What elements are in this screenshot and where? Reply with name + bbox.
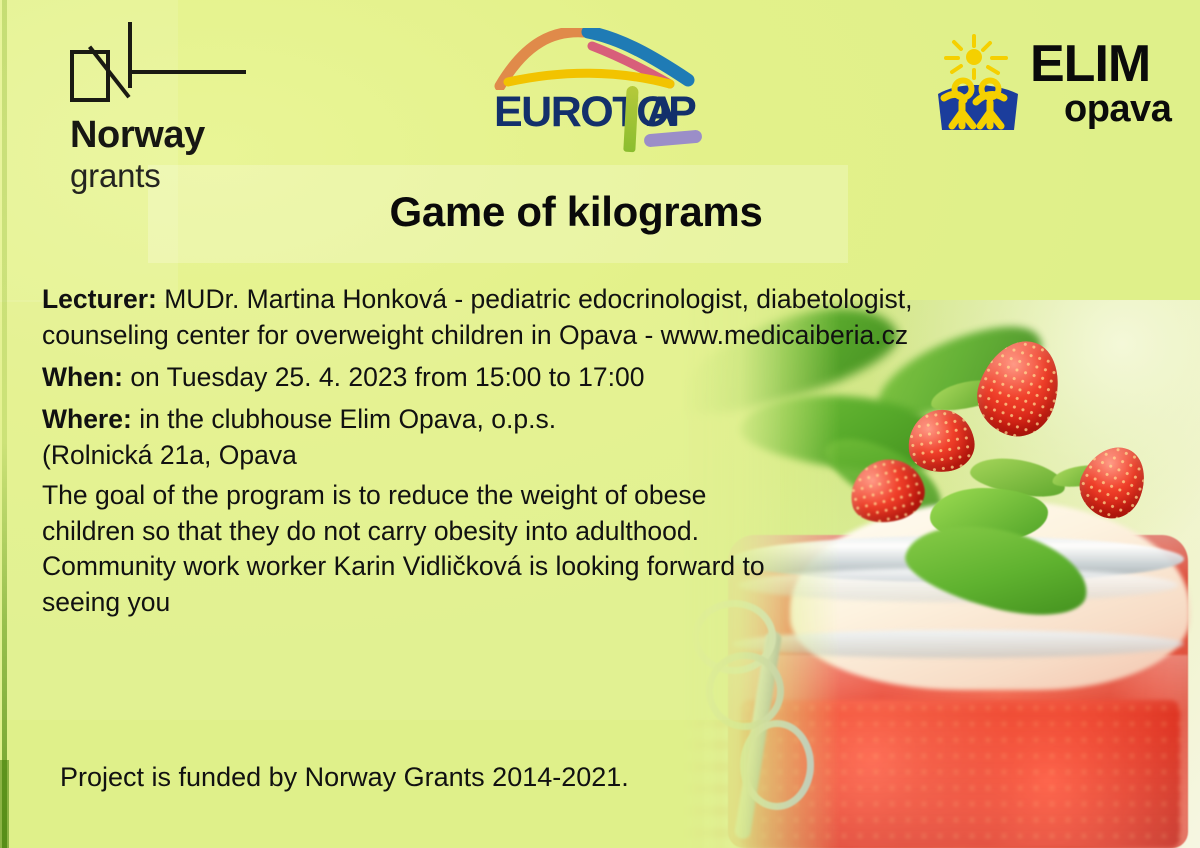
when-text: on Tuesday 25. 4. 2023 from 15:00 to 17:… xyxy=(123,362,645,392)
eurotopia-arc-icon xyxy=(492,28,702,90)
goal-block: The goal of the program is to reduce the… xyxy=(42,478,782,634)
elim-opava-logo: ELIM opava xyxy=(932,34,1152,138)
when-paragraph: When: on Tuesday 25. 4. 2023 from 15:00 … xyxy=(42,360,952,396)
when-label: When: xyxy=(42,362,123,392)
eurotopia-logo: EUROTOP A xyxy=(492,28,712,146)
lecturer-text: MUDr. Martina Honková - pediatric edocri… xyxy=(42,284,912,350)
norway-grants-mark-icon xyxy=(70,22,190,84)
poster-canvas: Norway grants EUROTOP A xyxy=(0,0,1200,848)
eurotopia-wordmark-tail: A xyxy=(646,88,676,137)
funding-note: Project is funded by Norway Grants 2014-… xyxy=(60,762,629,793)
lecturer-block: Lecturer: MUDr. Martina Honková - pediat… xyxy=(42,282,952,367)
where-block: Where: in the clubhouse Elim Opava, o.p.… xyxy=(42,402,952,487)
jar-clip-ring xyxy=(706,652,784,730)
norway-grants-logo: Norway grants xyxy=(70,22,300,194)
goal-paragraph: The goal of the program is to reduce the… xyxy=(42,478,782,620)
norway-logo-line1: Norway xyxy=(70,116,300,156)
eurotopia-letter-i-stroke xyxy=(623,86,638,153)
norway-mark-rectangle xyxy=(70,50,110,102)
jar-clip-ring xyxy=(740,720,814,810)
norway-mark-vertical xyxy=(128,22,132,88)
elim-opava-wordmark: opava xyxy=(1064,90,1171,128)
elim-wordmark: ELIM xyxy=(1030,38,1150,90)
where-text: in the clubhouse Elim Opava, o.p.s. xyxy=(132,404,556,434)
lecturer-label: Lecturer: xyxy=(42,284,157,314)
where-paragraph: Where: in the clubhouse Elim Opava, o.p.… xyxy=(42,402,952,438)
left-edge-stripe xyxy=(2,0,7,848)
elim-sun-and-people-icon xyxy=(932,34,1024,134)
glass-jar-ring xyxy=(732,630,1184,658)
where-address-line: (Rolnická 21a, Opava xyxy=(42,438,952,474)
page-title: Game of kilograms xyxy=(0,188,1152,236)
lecturer-paragraph: Lecturer: MUDr. Martina Honková - pediat… xyxy=(42,282,952,353)
where-label: Where: xyxy=(42,404,132,434)
left-edge-stripe-bottom xyxy=(0,760,9,848)
norway-mark-horizontal xyxy=(130,70,246,74)
